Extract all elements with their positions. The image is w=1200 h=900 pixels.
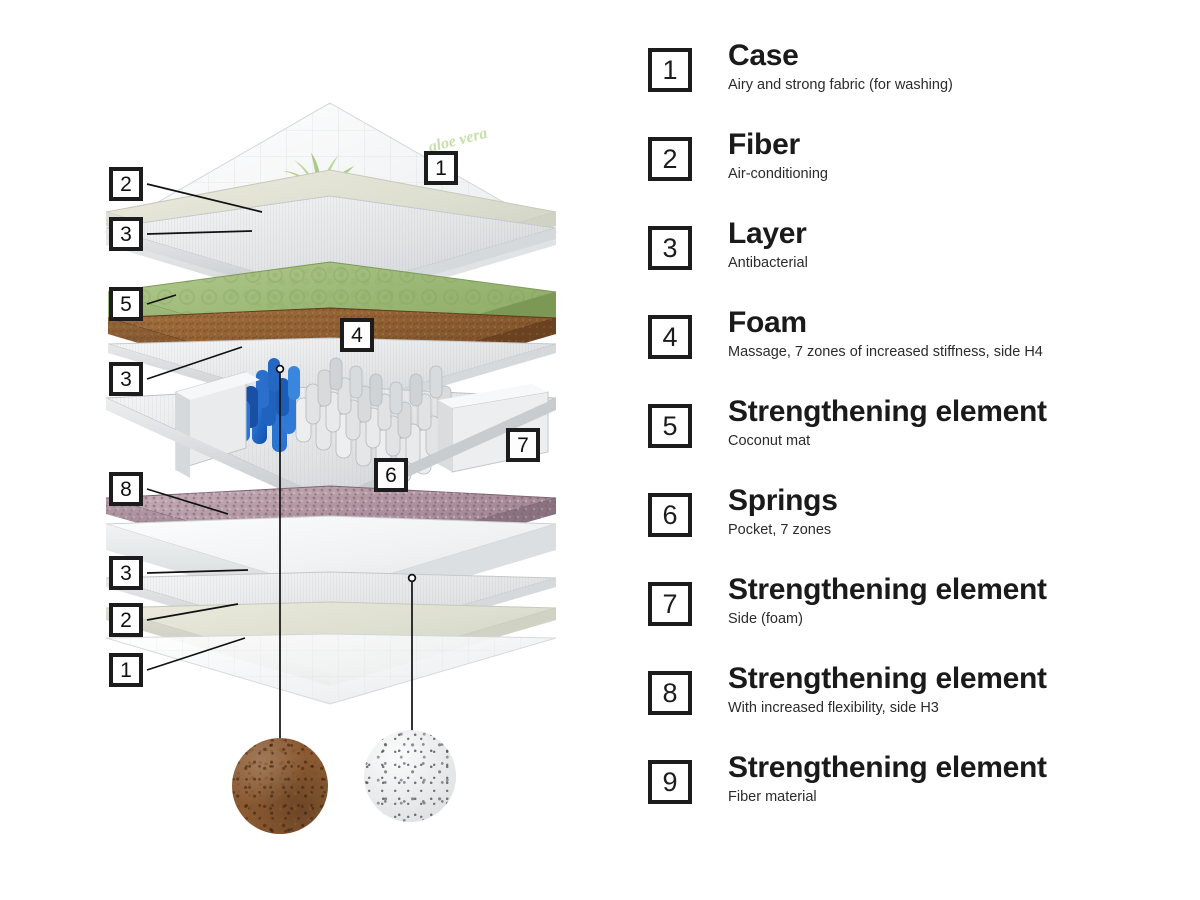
layer-case-bottom	[106, 634, 556, 704]
legend-item-3[interactable]: 3 Layer Antibacterial	[648, 218, 1178, 307]
callout-1-case-top[interactable]: 1	[424, 151, 458, 185]
legend-title-6: Springs	[728, 485, 1178, 517]
legend-number-9: 9	[648, 760, 692, 804]
exploded-mattress-diagram: aloe vera aloe vera	[0, 0, 640, 900]
callout-2-fiber-bottom[interactable]: 2	[109, 603, 143, 637]
legend-item-8[interactable]: 8 Strengthening element With increased f…	[648, 663, 1178, 752]
legend-subtitle-6: Pocket, 7 zones	[728, 522, 1178, 539]
legend-number-5: 5	[648, 404, 692, 448]
legend-number-8: 8	[648, 671, 692, 715]
legend-title-8: Strengthening element	[728, 663, 1178, 695]
legend-item-6[interactable]: 6 Springs Pocket, 7 zones	[648, 485, 1178, 574]
legend-subtitle-3: Antibacterial	[728, 255, 1178, 272]
legend-title-5: Strengthening element	[728, 396, 1178, 428]
legend-item-1[interactable]: 1 Case Airy and strong fabric (for washi…	[648, 40, 1178, 129]
legend-number-3: 3	[648, 226, 692, 270]
callout-3-antibacterial-bottom[interactable]: 3	[109, 556, 143, 590]
legend-subtitle-5: Coconut mat	[728, 433, 1178, 450]
coconut-fiber-swatch	[232, 738, 328, 834]
legend-item-2[interactable]: 2 Fiber Air-conditioning	[648, 129, 1178, 218]
callout-5-coconut-mat[interactable]: 5	[109, 287, 143, 321]
callout-2-fiber-top[interactable]: 2	[109, 167, 143, 201]
legend-number-7: 7	[648, 582, 692, 626]
legend-number-6: 6	[648, 493, 692, 537]
legend-subtitle-4: Massage, 7 zones of increased stiffness,…	[728, 344, 1178, 361]
legend-number-2: 2	[648, 137, 692, 181]
callout-3-antibacterial-mid[interactable]: 3	[109, 362, 143, 396]
legend-subtitle-1: Airy and strong fabric (for washing)	[728, 77, 1178, 94]
legend-title-3: Layer	[728, 218, 1178, 250]
foam-material-swatch	[364, 730, 456, 822]
legend-number-4: 4	[648, 315, 692, 359]
callout-8-felt-fiber[interactable]: 8	[109, 472, 143, 506]
callout-7-side-foam[interactable]: 7	[506, 428, 540, 462]
legend-number-1: 1	[648, 48, 692, 92]
legend-item-4[interactable]: 4 Foam Massage, 7 zones of increased sti…	[648, 307, 1178, 396]
callout-3-antibacterial-top[interactable]: 3	[109, 217, 143, 251]
legend-item-7[interactable]: 7 Strengthening element Side (foam)	[648, 574, 1178, 663]
callout-4-green-foam[interactable]: 4	[340, 318, 374, 352]
layer-legend-list: 1 Case Airy and strong fabric (for washi…	[648, 40, 1178, 841]
legend-subtitle-7: Side (foam)	[728, 611, 1178, 628]
legend-subtitle-8: With increased flexibility, side H3	[728, 700, 1178, 717]
legend-item-5[interactable]: 5 Strengthening element Coconut mat	[648, 396, 1178, 485]
legend-title-1: Case	[728, 40, 1178, 72]
legend-item-9[interactable]: 9 Strengthening element Fiber material	[648, 752, 1178, 841]
legend-subtitle-9: Fiber material	[728, 789, 1178, 806]
legend-title-4: Foam	[728, 307, 1178, 339]
callout-6-springs[interactable]: 6	[374, 458, 408, 492]
callout-1-case-bottom[interactable]: 1	[109, 653, 143, 687]
legend-title-9: Strengthening element	[728, 752, 1178, 784]
mattress-layers-infographic: aloe vera aloe vera	[0, 0, 1200, 900]
legend-subtitle-2: Air-conditioning	[728, 166, 1178, 183]
legend-title-2: Fiber	[728, 129, 1178, 161]
legend-title-7: Strengthening element	[728, 574, 1178, 606]
